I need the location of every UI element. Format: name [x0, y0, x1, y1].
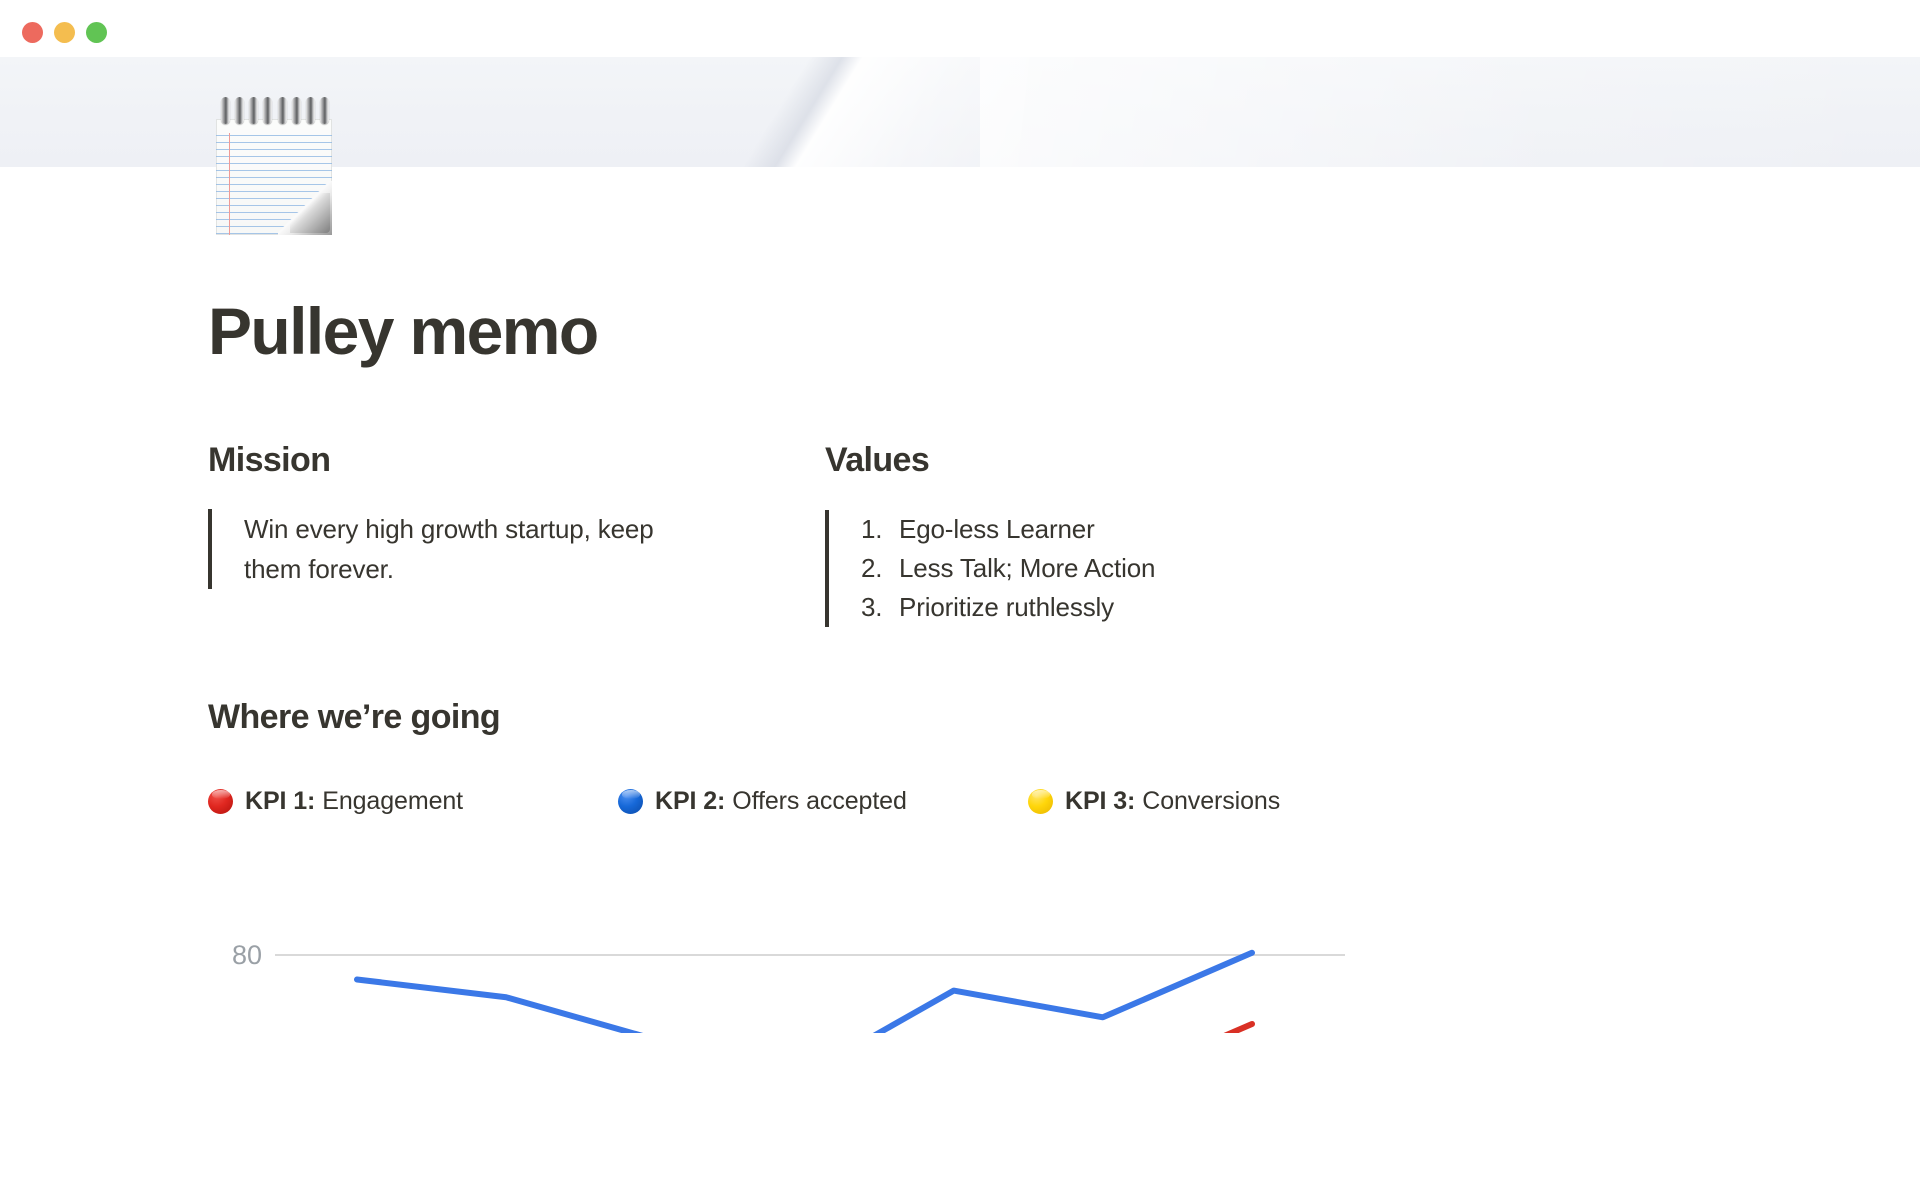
- list-item-number: 1.: [861, 510, 899, 549]
- chart-y-tick-label: 80: [232, 940, 262, 970]
- spiral-ring: [278, 97, 287, 124]
- chart-series-line: [1103, 1024, 1252, 1033]
- kpi-3-value: Conversions: [1142, 784, 1280, 818]
- kpi-legend-item-1[interactable]: KPI 1: Engagement: [208, 784, 618, 818]
- red-circle-icon: [208, 789, 233, 814]
- page-title[interactable]: Pulley memo: [208, 292, 598, 370]
- spiral-ring: [263, 97, 272, 124]
- window-titlebar: [0, 0, 1920, 57]
- spiral-ring: [320, 97, 329, 124]
- list-item[interactable]: 2. Less Talk; More Action: [861, 549, 1442, 588]
- where-we-are-going-heading[interactable]: Where we’re going: [208, 696, 500, 738]
- list-item-number: 2.: [861, 549, 899, 588]
- mission-quote-block[interactable]: Win every high growth startup, keep them…: [208, 509, 825, 589]
- maximize-window-button[interactable]: [86, 22, 107, 43]
- kpi-legend-item-3[interactable]: KPI 3: Conversions: [1028, 784, 1438, 818]
- kpi-2-key: KPI 2:: [655, 784, 725, 818]
- app-window: Pulley memo Mission Win every high growt…: [0, 0, 1920, 1200]
- spiral-ring: [235, 97, 244, 124]
- cover-sheen-decoration: [980, 57, 1920, 167]
- kpi-2-value: Offers accepted: [732, 784, 907, 818]
- chart-canvas: 8060: [0, 853, 1920, 1033]
- list-item-label: Ego-less Learner: [899, 510, 1095, 549]
- notepad-spiral-rings: [221, 97, 329, 127]
- kpi-legend: KPI 1: Engagement KPI 2: Offers accepted…: [208, 784, 1748, 818]
- notepad-page-curl-shadow: [290, 193, 330, 233]
- spiral-ring: [221, 97, 230, 124]
- kpi-3-key: KPI 3:: [1065, 784, 1135, 818]
- spiral-ring: [292, 97, 301, 124]
- mission-column: Mission Win every high growth startup, k…: [208, 439, 825, 627]
- close-window-button[interactable]: [22, 22, 43, 43]
- list-item-label: Less Talk; More Action: [899, 549, 1155, 588]
- traffic-lights: [22, 22, 107, 43]
- kpi-1-key: KPI 1:: [245, 784, 315, 818]
- chart-y-tick-label: 60: [232, 1029, 262, 1033]
- cover-fold-decoration: [546, 57, 1033, 167]
- mission-heading[interactable]: Mission: [208, 439, 825, 481]
- yellow-circle-icon: [1028, 789, 1053, 814]
- spiral-ring: [249, 97, 258, 124]
- two-column-layout: Mission Win every high growth startup, k…: [208, 439, 1748, 627]
- list-item-number: 3.: [861, 588, 899, 627]
- values-heading[interactable]: Values: [825, 439, 1442, 481]
- list-item-label: Prioritize ruthlessly: [899, 588, 1114, 627]
- notepad-body: [216, 119, 332, 235]
- values-list: 1. Ego-less Learner 2. Less Talk; More A…: [861, 510, 1442, 627]
- notepad-margin-line: [229, 133, 230, 235]
- kpi-line-chart[interactable]: 8060: [0, 853, 1920, 1033]
- list-item[interactable]: 3. Prioritize ruthlessly: [861, 588, 1442, 627]
- list-item[interactable]: 1. Ego-less Learner: [861, 510, 1442, 549]
- values-list-block[interactable]: 1. Ego-less Learner 2. Less Talk; More A…: [825, 510, 1442, 627]
- notepad-icon[interactable]: [216, 97, 332, 235]
- blue-circle-icon: [618, 789, 643, 814]
- mission-quote-text: Win every high growth startup, keep them…: [244, 509, 704, 589]
- minimize-window-button[interactable]: [54, 22, 75, 43]
- values-column: Values 1. Ego-less Learner 2. Less Talk;…: [825, 439, 1442, 627]
- kpi-legend-item-2[interactable]: KPI 2: Offers accepted: [618, 784, 1028, 818]
- spiral-ring: [306, 97, 315, 124]
- kpi-1-value: Engagement: [322, 784, 463, 818]
- chart-series-line: [357, 953, 1252, 1033]
